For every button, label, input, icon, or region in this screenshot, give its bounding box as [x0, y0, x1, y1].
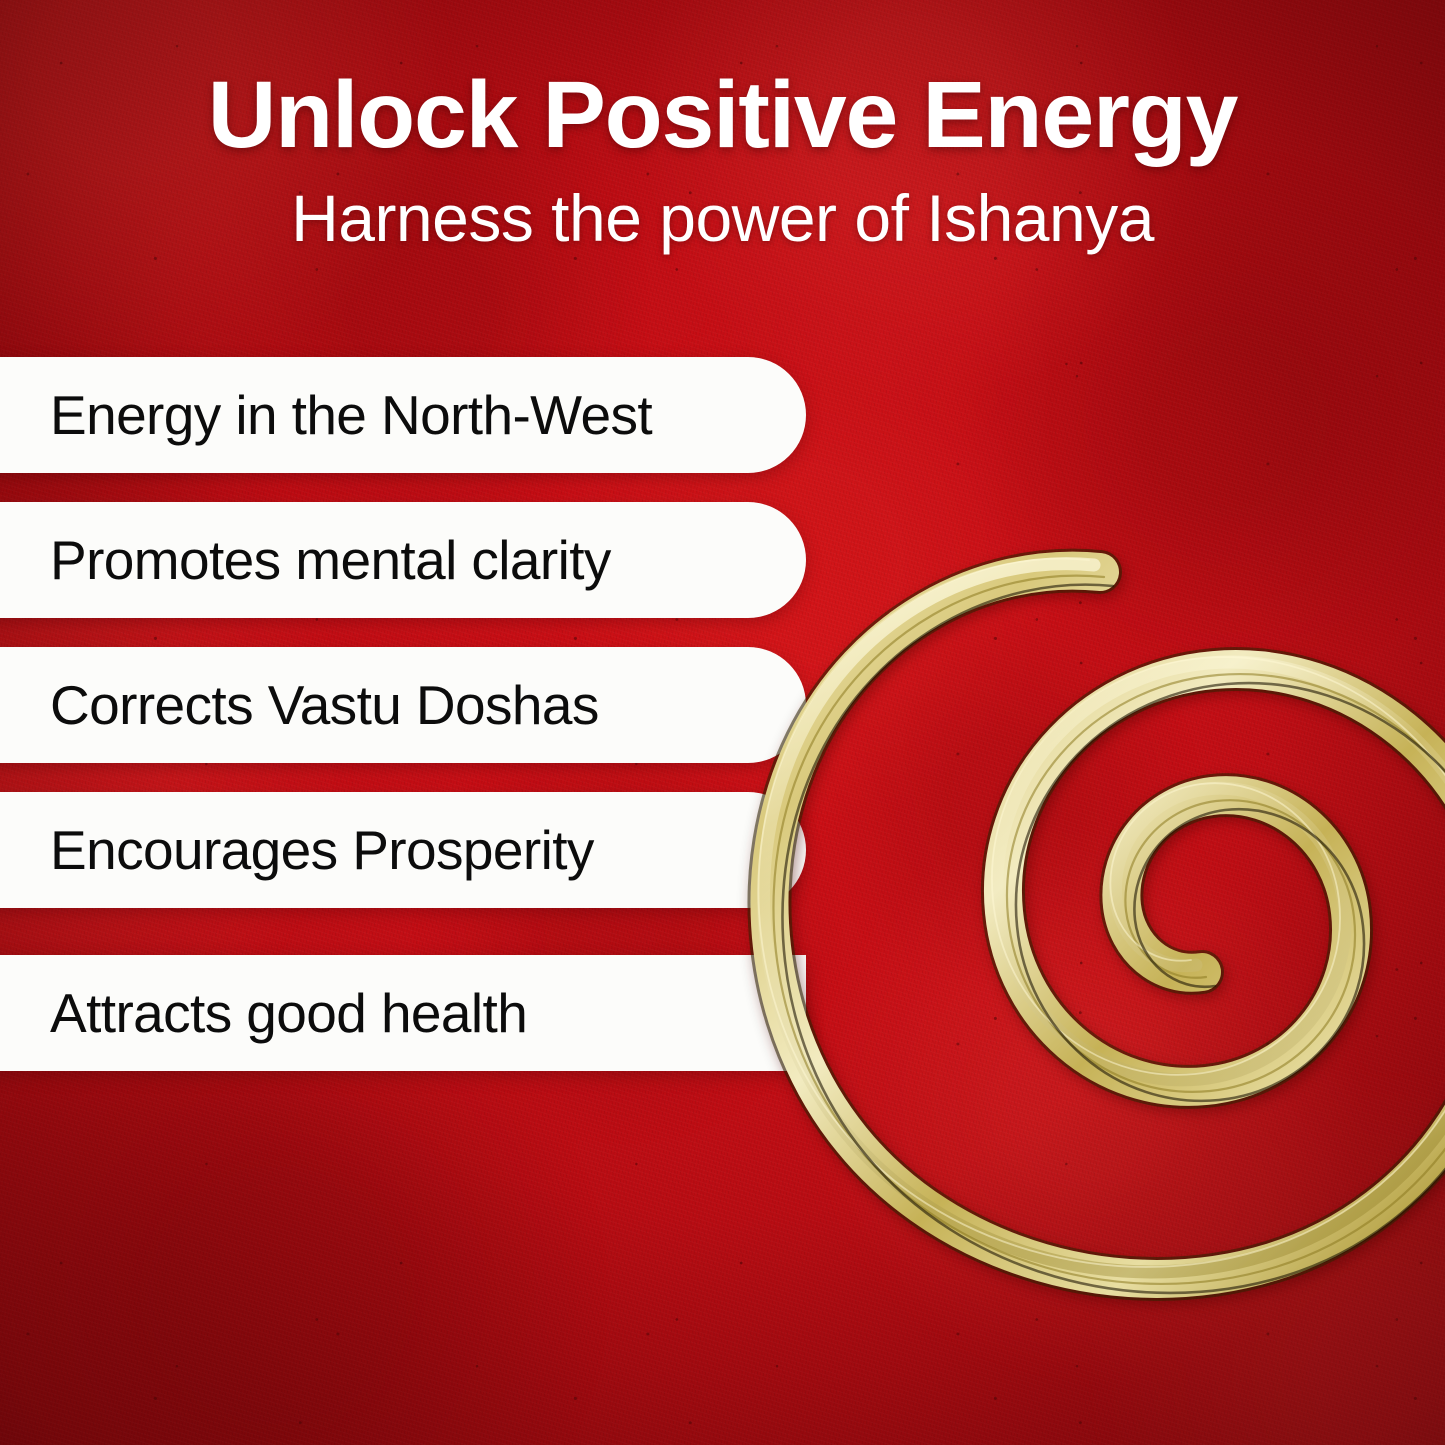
benefit-label: Attracts good health	[0, 986, 527, 1041]
benefit-label: Corrects Vastu Doshas	[0, 678, 599, 733]
benefit-pill[interactable]: Encourages Prosperity	[0, 792, 806, 908]
benefit-pill[interactable]: Energy in the North-West	[0, 357, 806, 473]
benefit-label: Promotes mental clarity	[0, 533, 611, 588]
header-block: Unlock Positive Energy Harness the power…	[0, 0, 1445, 251]
benefit-label: Energy in the North-West	[0, 388, 652, 443]
benefit-pill[interactable]: Corrects Vastu Doshas	[0, 647, 806, 763]
benefit-pill[interactable]: Attracts good health	[0, 955, 806, 1071]
page-subtitle: Harness the power of Ishanya	[0, 163, 1445, 251]
benefit-pill[interactable]: Promotes mental clarity	[0, 502, 806, 618]
page-title: Unlock Positive Energy	[0, 0, 1445, 163]
benefit-label: Encourages Prosperity	[0, 823, 594, 878]
poster-canvas: Unlock Positive Energy Harness the power…	[0, 0, 1445, 1445]
